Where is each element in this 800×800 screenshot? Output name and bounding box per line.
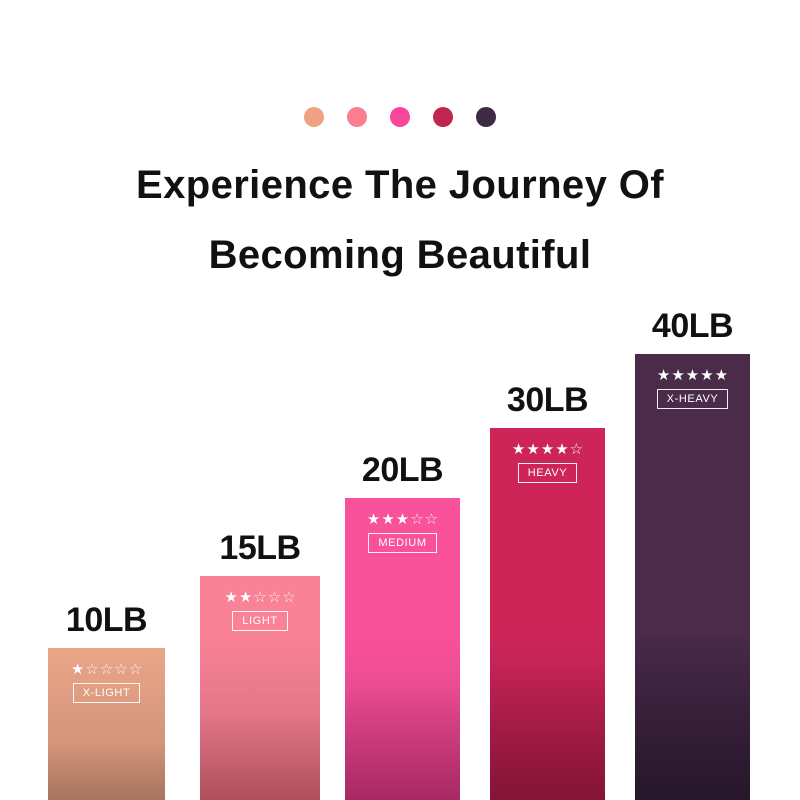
bar-x-light[interactable]: ★☆☆☆☆X-LIGHT bbox=[48, 648, 165, 800]
star-filled-icon: ★ bbox=[657, 368, 670, 383]
bar-weight-label: 30LB bbox=[490, 381, 605, 420]
bar-badge-block: ★★☆☆☆LIGHT bbox=[200, 590, 320, 631]
star-filled-icon: ★ bbox=[555, 442, 568, 457]
star-filled-icon: ★ bbox=[71, 662, 84, 677]
star-empty-icon: ☆ bbox=[85, 662, 98, 677]
bar-badge-block: ★★★★★X-HEAVY bbox=[635, 368, 750, 409]
color-swatch-row bbox=[0, 107, 800, 127]
level-badge: X-HEAVY bbox=[657, 389, 729, 409]
star-filled-icon: ★ bbox=[541, 442, 554, 457]
star-filled-icon: ★ bbox=[700, 368, 713, 383]
star-empty-icon: ☆ bbox=[114, 662, 127, 677]
dot-light bbox=[347, 107, 367, 127]
bar-weight-label: 10LB bbox=[48, 601, 165, 640]
bar-weight-label: 20LB bbox=[345, 451, 460, 490]
level-badge: HEAVY bbox=[518, 463, 577, 483]
bar-column[interactable]: 20LB★★★☆☆MEDIUM bbox=[345, 436, 460, 800]
rating-stars: ★★☆☆☆ bbox=[224, 590, 295, 605]
star-filled-icon: ★ bbox=[396, 512, 409, 527]
star-filled-icon: ★ bbox=[367, 512, 380, 527]
page-title-line-2: Becoming Beautiful bbox=[0, 220, 800, 290]
bar-light[interactable]: ★★☆☆☆LIGHT bbox=[200, 576, 320, 800]
bar-column[interactable]: 40LB★★★★★X-HEAVY bbox=[635, 292, 750, 800]
star-empty-icon: ☆ bbox=[425, 512, 438, 527]
star-empty-icon: ☆ bbox=[253, 590, 266, 605]
level-badge: X-LIGHT bbox=[73, 683, 141, 703]
bar-weight-label: 40LB bbox=[635, 307, 750, 346]
star-empty-icon: ☆ bbox=[282, 590, 295, 605]
star-empty-icon: ☆ bbox=[268, 590, 281, 605]
level-badge: MEDIUM bbox=[368, 533, 436, 553]
star-empty-icon: ☆ bbox=[129, 662, 142, 677]
dot-medium bbox=[390, 107, 410, 127]
rating-stars: ★★★★★ bbox=[657, 368, 728, 383]
star-empty-icon: ☆ bbox=[410, 512, 423, 527]
star-filled-icon: ★ bbox=[381, 512, 394, 527]
star-empty-icon: ☆ bbox=[100, 662, 113, 677]
star-filled-icon: ★ bbox=[671, 368, 684, 383]
dot-x-heavy bbox=[476, 107, 496, 127]
star-filled-icon: ★ bbox=[526, 442, 539, 457]
star-filled-icon: ★ bbox=[715, 368, 728, 383]
bar-column[interactable]: 15LB★★☆☆☆LIGHT bbox=[200, 514, 320, 800]
level-badge: LIGHT bbox=[232, 611, 287, 631]
bar-column[interactable]: 30LB★★★★☆HEAVY bbox=[490, 366, 605, 800]
bar-badge-block: ★★★★☆HEAVY bbox=[490, 442, 605, 483]
bar-weight-label: 15LB bbox=[200, 529, 320, 568]
star-filled-icon: ★ bbox=[239, 590, 252, 605]
bar-badge-block: ★☆☆☆☆X-LIGHT bbox=[48, 662, 165, 703]
bar-medium[interactable]: ★★★☆☆MEDIUM bbox=[345, 498, 460, 800]
page-title-line-1: Experience The Journey Of bbox=[0, 150, 800, 220]
star-empty-icon: ☆ bbox=[570, 442, 583, 457]
bar-heavy[interactable]: ★★★★☆HEAVY bbox=[490, 428, 605, 800]
star-filled-icon: ★ bbox=[224, 590, 237, 605]
dot-x-light bbox=[304, 107, 324, 127]
rating-stars: ★☆☆☆☆ bbox=[71, 662, 142, 677]
promo-infographic: Experience The Journey Of Becoming Beaut… bbox=[0, 0, 800, 800]
rating-stars: ★★★★☆ bbox=[512, 442, 583, 457]
bar-column[interactable]: 10LB★☆☆☆☆X-LIGHT bbox=[48, 586, 165, 800]
dot-heavy bbox=[433, 107, 453, 127]
star-filled-icon: ★ bbox=[512, 442, 525, 457]
bar-x-heavy[interactable]: ★★★★★X-HEAVY bbox=[635, 354, 750, 800]
star-filled-icon: ★ bbox=[686, 368, 699, 383]
resistance-band-bar-chart: 10LB★☆☆☆☆X-LIGHT15LB★★☆☆☆LIGHT20LB★★★☆☆M… bbox=[0, 330, 800, 800]
page-title: Experience The Journey Of Becoming Beaut… bbox=[0, 150, 800, 290]
rating-stars: ★★★☆☆ bbox=[367, 512, 438, 527]
bar-badge-block: ★★★☆☆MEDIUM bbox=[345, 512, 460, 553]
